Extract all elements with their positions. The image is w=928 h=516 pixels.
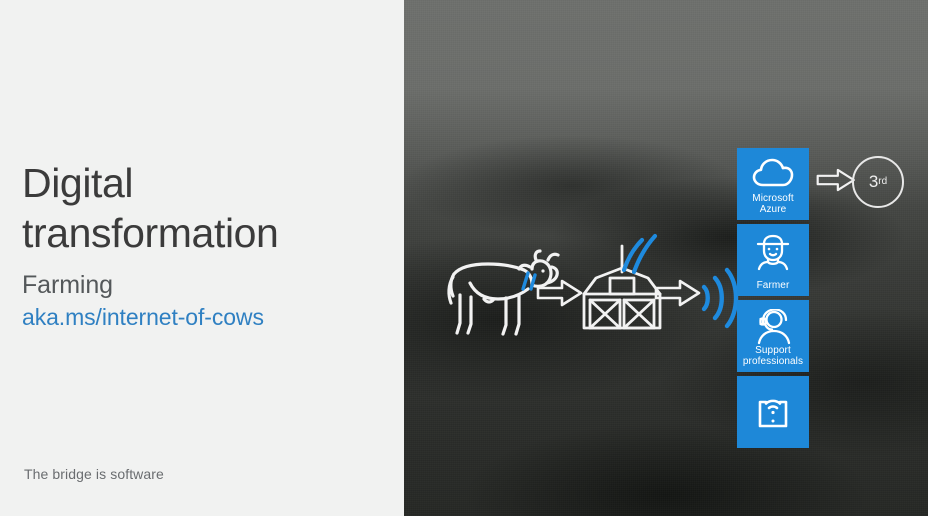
tile-label-line1: Microsoft [737,193,809,204]
left-text-panel: Digital transformation Farming aka.ms/in… [0,0,404,516]
tile-label: Microsoft Azure [737,193,809,215]
third-party-badge[interactable]: 3rd [852,156,904,208]
page-title-line1: Digital [22,158,382,208]
page-title-line2: transformation [22,208,382,258]
device-wifi-icon [753,393,793,433]
title-block: Digital transformation Farming aka.ms/in… [22,158,382,332]
barn-antenna-signal-icon [614,222,662,278]
tile-connected-device[interactable] [737,376,809,448]
tile-label-line2: professionals [737,356,809,367]
wifi-signal-icon [698,265,742,331]
farmer-icon [754,233,792,271]
service-tile-stack: Microsoft Azure [737,148,809,452]
slide-canvas: Digital transformation Farming aka.ms/in… [0,0,928,516]
third-party-number: 3 [869,172,878,192]
arrow-barn-to-signal [654,278,704,308]
short-link[interactable]: aka.ms/internet-of-cows [22,303,382,332]
tile-label: Support professionals [737,345,809,367]
headset-icon [754,309,792,345]
tile-support-professionals[interactable]: Support professionals [737,300,809,372]
collar-sensor-icon [523,273,535,289]
page-subtitle: Farming [22,270,382,301]
iot-flow-diagram: Microsoft Azure [404,0,928,516]
tile-label-line2: Azure [737,204,809,215]
footer-note: The bridge is software [24,466,164,482]
tile-farmer[interactable]: Farmer [737,224,809,296]
tile-microsoft-azure[interactable]: Microsoft Azure [737,148,809,220]
tile-label: Farmer [737,280,809,291]
photo-panel: Microsoft Azure [404,0,928,516]
tile-label-line1: Farmer [737,280,809,291]
cloud-icon [752,157,794,189]
tile-label-line1: Support [737,345,809,356]
